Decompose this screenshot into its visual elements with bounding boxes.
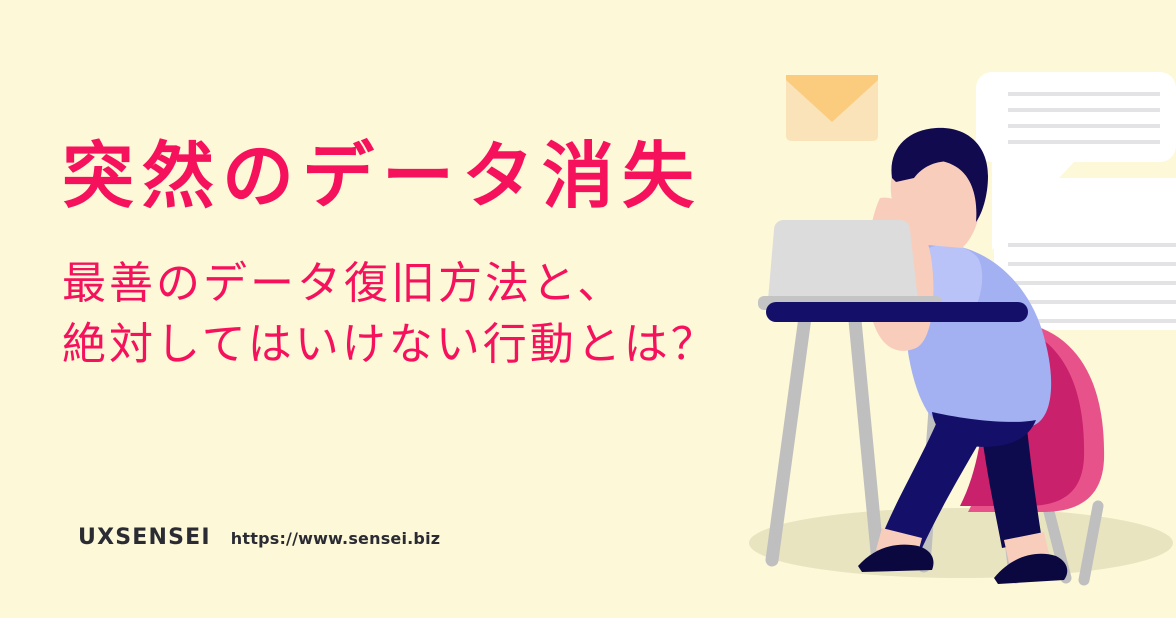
- banner-root: 突然のデータ消失 最善のデータ復旧方法と、 絶対してはいけない行動とは？ UXS…: [0, 0, 1176, 618]
- text-block: 突然のデータ消失 最善のデータ復旧方法と、 絶対してはいけない行動とは？: [62, 140, 762, 375]
- frustrated-person-at-desk-illustration: [746, 0, 1176, 618]
- desk-surface-bar: [766, 302, 1028, 322]
- brand-logo-text: UXSENSEI: [78, 525, 211, 550]
- brand-website-url: https://www.sensei.biz: [231, 529, 441, 548]
- page-title: 突然のデータ消失: [62, 140, 762, 212]
- floor-shadow-ellipse: [749, 508, 1173, 578]
- page-subtitle: 最善のデータ復旧方法と、 絶対してはいけない行動とは？: [62, 212, 762, 375]
- brand-footer: UXSENSEI https://www.sensei.biz: [78, 525, 440, 550]
- page-subtitle-line-1: 最善のデータ復旧方法と、: [62, 254, 762, 315]
- page-subtitle-line-2: 絶対してはいけない行動とは？: [62, 315, 762, 376]
- envelope-icon: [786, 75, 878, 141]
